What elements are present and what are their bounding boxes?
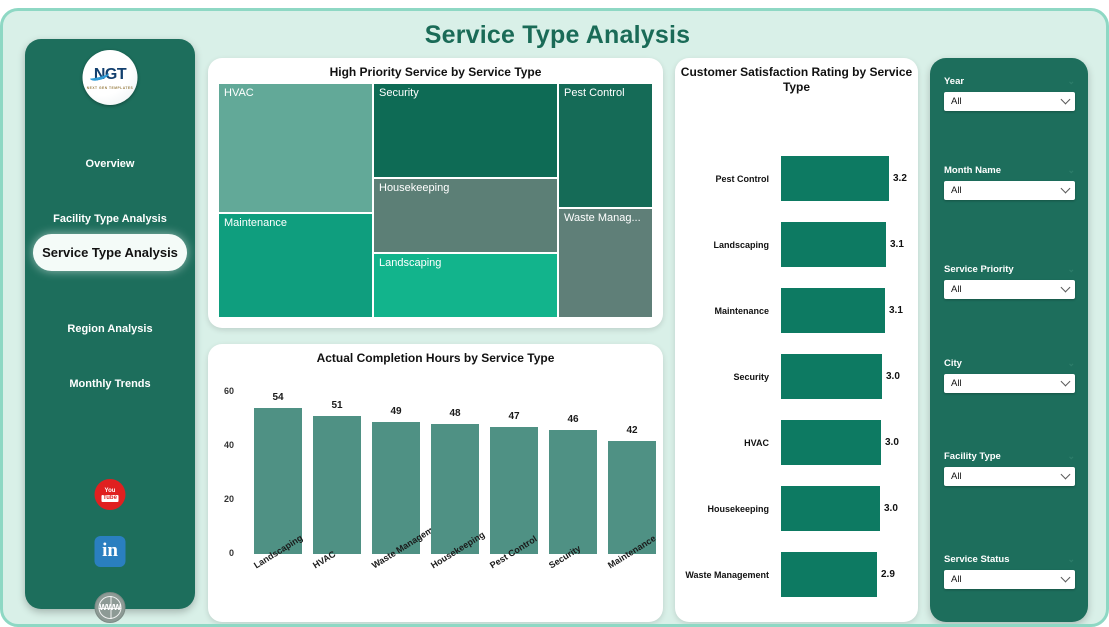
sidebar-item-overview[interactable]: Overview <box>33 149 187 179</box>
sat-category-label: Waste Management <box>675 547 775 602</box>
sat-bar-pest-control[interactable] <box>781 156 889 201</box>
y-axis-tick: 60 <box>212 386 234 396</box>
treemap-title: High Priority Service by Service Type <box>208 58 663 80</box>
city-select[interactable]: All <box>944 374 1075 393</box>
sat-row[interactable]: Pest Control 3.2 <box>675 151 918 206</box>
sat-bar-hvac[interactable] <box>781 420 881 465</box>
city-select-value: All <box>951 378 962 389</box>
treemap-tile-landscaping[interactable]: Landscaping <box>373 253 558 318</box>
chevron-down-icon <box>1061 95 1071 105</box>
bar-value-label: 49 <box>372 406 420 417</box>
chevron-down-icon <box>1061 377 1071 387</box>
sat-bar-security[interactable] <box>781 354 882 399</box>
year-select[interactable]: All <box>944 92 1075 111</box>
chevron-down-icon[interactable]: ⌄ <box>1067 452 1075 461</box>
sat-row[interactable]: HVAC 3.0 <box>675 415 918 470</box>
facility-type-select[interactable]: All <box>944 467 1075 486</box>
treemap-chart[interactable]: HVAC Maintenance Security Housekeeping L… <box>218 83 653 318</box>
chevron-down-icon[interactable]: ⌄ <box>1067 77 1075 86</box>
sidebar-item-facility-type-analysis[interactable]: Facility Type Analysis <box>33 204 187 234</box>
chevron-down-icon <box>1061 283 1071 293</box>
sat-bar-landscaping[interactable] <box>781 222 886 267</box>
filter-label-text: Facility Type <box>944 451 1001 462</box>
sat-value-label: 3.0 <box>884 481 898 536</box>
sat-row[interactable]: Security 3.0 <box>675 349 918 404</box>
treemap-tile-pest-control[interactable]: Pest Control <box>558 83 653 208</box>
sat-row[interactable]: Waste Management 2.9 <box>675 547 918 602</box>
treemap-tile-security[interactable]: Security <box>373 83 558 178</box>
satisfaction-title: Customer Satisfaction Rating by Service … <box>675 58 918 95</box>
sat-bar-waste-management[interactable] <box>781 552 877 597</box>
sat-bar-housekeeping[interactable] <box>781 486 880 531</box>
filter-service-priority: Service Priority ⌄ All <box>944 264 1075 299</box>
filter-label: Year ⌄ <box>944 76 1075 87</box>
youtube-line1: You <box>105 488 116 495</box>
sat-category-label: Housekeeping <box>675 481 775 536</box>
sidebar-item-service-type-analysis[interactable]: Service Type Analysis <box>33 234 187 271</box>
bar-value-label: 46 <box>549 414 597 425</box>
sat-bar-maintenance[interactable] <box>781 288 885 333</box>
bar-value-label: 54 <box>254 392 302 403</box>
sidebar: NGT NEXT GEN TEMPLATES Overview Facility… <box>25 39 195 609</box>
chevron-down-icon <box>1061 573 1071 583</box>
service-priority-select-value: All <box>951 284 962 295</box>
chevron-down-icon <box>1061 184 1071 194</box>
sidebar-item-label: Service Type Analysis <box>42 245 178 260</box>
treemap-tile-hvac[interactable]: HVAC <box>218 83 373 213</box>
filter-label: City ⌄ <box>944 358 1075 369</box>
y-axis-tick: 20 <box>212 494 234 504</box>
sat-category-label: Pest Control <box>675 151 775 206</box>
sidebar-item-label: Overview <box>86 158 135 170</box>
service-status-select[interactable]: All <box>944 570 1075 589</box>
sat-value-label: 3.1 <box>890 217 904 272</box>
filter-label: Month Name ⌄ <box>944 165 1075 176</box>
youtube-icon[interactable]: You Tube <box>95 479 126 510</box>
filter-label-text: Year <box>944 76 964 87</box>
filter-label: Facility Type ⌄ <box>944 451 1075 462</box>
filter-service-status: Service Status ⌄ All <box>944 554 1075 589</box>
bar-value-label: 42 <box>608 425 656 436</box>
satisfaction-chart[interactable]: Pest Control 3.2 Landscaping 3.1 Mainten… <box>675 102 918 617</box>
filter-panel: Year ⌄ All Month Name ⌄ All Service Prio… <box>930 58 1088 622</box>
linkedin-icon[interactable]: in <box>95 536 126 567</box>
filter-month-name: Month Name ⌄ All <box>944 165 1075 200</box>
y-axis-tick: 0 <box>212 548 234 558</box>
sat-row[interactable]: Maintenance 3.1 <box>675 283 918 338</box>
month-name-select[interactable]: All <box>944 181 1075 200</box>
treemap-tile-label: Landscaping <box>379 257 441 269</box>
sat-category-label: HVAC <box>675 415 775 470</box>
completion-hours-title: Actual Completion Hours by Service Type <box>208 344 663 366</box>
chevron-down-icon[interactable]: ⌄ <box>1067 359 1075 368</box>
filter-year: Year ⌄ All <box>944 76 1075 111</box>
chevron-down-icon[interactable]: ⌄ <box>1067 555 1075 564</box>
filter-facility-type: Facility Type ⌄ All <box>944 451 1075 486</box>
brand-logo: NGT NEXT GEN TEMPLATES <box>83 50 138 105</box>
dashboard-page: Service Type Analysis NGT NEXT GEN TEMPL… <box>0 8 1109 627</box>
bar-hvac[interactable] <box>313 416 361 554</box>
filter-label-text: City <box>944 358 962 369</box>
bar-value-label: 47 <box>490 411 538 422</box>
website-icon[interactable]: WWW <box>95 592 126 623</box>
sidebar-item-monthly-trends[interactable]: Monthly Trends <box>33 369 187 399</box>
treemap-tile-label: Housekeeping <box>379 182 449 194</box>
completion-hours-chart[interactable]: 0 20 40 60 54 Landscaping 51 HVAC 49 Was… <box>208 370 663 620</box>
treemap-tile-maintenance[interactable]: Maintenance <box>218 213 373 318</box>
filter-label-text: Service Status <box>944 554 1009 565</box>
treemap-tile-label: Pest Control <box>564 87 625 99</box>
logo-tagline: NEXT GEN TEMPLATES <box>87 86 134 90</box>
bar-value-label: 51 <box>313 400 361 411</box>
youtube-line2: Tube <box>101 495 119 502</box>
logo-mark: NGT <box>94 66 126 84</box>
month-name-select-value: All <box>951 185 962 196</box>
y-axis-tick: 40 <box>212 440 234 450</box>
chevron-down-icon[interactable]: ⌄ <box>1067 265 1075 274</box>
bar-value-label: 48 <box>431 408 479 419</box>
sat-category-label: Landscaping <box>675 217 775 272</box>
sat-category-label: Maintenance <box>675 283 775 338</box>
bar-landscaping[interactable] <box>254 408 302 554</box>
service-status-select-value: All <box>951 574 962 585</box>
treemap-tile-waste-management[interactable]: Waste Manag... <box>558 208 653 318</box>
chevron-down-icon[interactable]: ⌄ <box>1067 166 1075 175</box>
treemap-card: High Priority Service by Service Type HV… <box>208 58 663 328</box>
sat-value-label: 2.9 <box>881 547 895 602</box>
sidebar-item-label: Monthly Trends <box>69 378 150 390</box>
sat-row[interactable]: Landscaping 3.1 <box>675 217 918 272</box>
linkedin-glyph: in <box>102 540 118 562</box>
bar-security[interactable] <box>549 430 597 554</box>
service-priority-select[interactable]: All <box>944 280 1075 299</box>
satisfaction-card: Customer Satisfaction Rating by Service … <box>675 58 918 622</box>
treemap-tile-label: Waste Manag... <box>564 212 641 224</box>
filter-label: Service Status ⌄ <box>944 554 1075 565</box>
chevron-down-icon <box>1061 470 1071 480</box>
treemap-tile-label: Security <box>379 87 419 99</box>
filter-city: City ⌄ All <box>944 358 1075 393</box>
sidebar-item-region-analysis[interactable]: Region Analysis <box>33 314 187 344</box>
sat-value-label: 3.1 <box>889 283 903 338</box>
treemap-tile-label: Maintenance <box>224 217 287 229</box>
sidebar-item-label: Facility Type Analysis <box>53 213 167 225</box>
filter-label: Service Priority ⌄ <box>944 264 1075 275</box>
sat-value-label: 3.0 <box>886 349 900 404</box>
website-glyph: WWW <box>99 603 120 612</box>
year-select-value: All <box>951 96 962 107</box>
filter-label-text: Service Priority <box>944 264 1014 275</box>
filter-label-text: Month Name <box>944 165 1001 176</box>
sat-value-label: 3.0 <box>885 415 899 470</box>
completion-hours-card: Actual Completion Hours by Service Type … <box>208 344 663 622</box>
sat-value-label: 3.2 <box>893 151 907 206</box>
sat-category-label: Security <box>675 349 775 404</box>
sidebar-item-label: Region Analysis <box>67 323 152 335</box>
treemap-tile-housekeeping[interactable]: Housekeeping <box>373 178 558 253</box>
sat-row[interactable]: Housekeeping 3.0 <box>675 481 918 536</box>
facility-type-select-value: All <box>951 471 962 482</box>
treemap-tile-label: HVAC <box>224 87 254 99</box>
